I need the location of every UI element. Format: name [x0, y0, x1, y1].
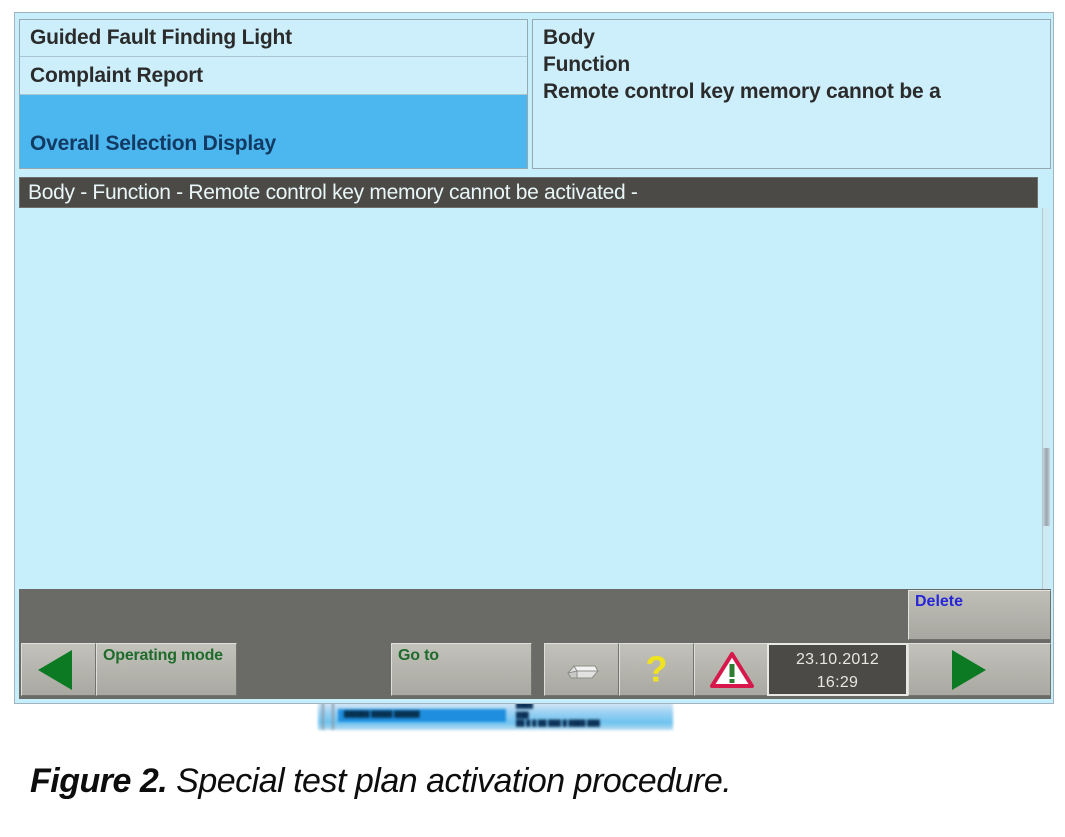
delete-button[interactable]: Delete	[908, 590, 1051, 640]
info-line-fault: Remote control key memory cannot be a	[543, 78, 1050, 105]
triangle-right-icon	[952, 650, 986, 690]
date-text: 23.10.2012	[769, 648, 906, 671]
triangle-left-icon	[38, 650, 72, 690]
menu-item-overall-selection-display[interactable]: Overall Selection Display	[20, 95, 527, 168]
info-line-function: Function	[543, 51, 1050, 78]
warning-triangle-icon	[710, 651, 754, 689]
scrollbar-thumb[interactable]	[1043, 448, 1050, 526]
header-row: Guided Fault Finding Light Complaint Rep…	[15, 13, 1055, 173]
hmi-screenshot: ██████ █████ ██████ ████ ███ ██ █ █ ██ █…	[0, 0, 1065, 730]
hmi-panel: Guided Fault Finding Light Complaint Rep…	[14, 12, 1054, 704]
warning-button[interactable]	[694, 643, 769, 696]
printer-icon	[562, 659, 602, 681]
back-button[interactable]	[21, 643, 96, 696]
delete-button-label: Delete	[915, 593, 963, 610]
bottom-toolbar: Operating mode Go to ?	[19, 641, 1051, 699]
time-text: 16:29	[769, 671, 906, 694]
menu-item-guided-fault-finding-light[interactable]: Guided Fault Finding Light	[20, 20, 527, 57]
datetime-display[interactable]: 23.10.2012 16:29	[767, 643, 908, 696]
figure-number: Figure 2.	[30, 762, 167, 800]
question-mark-icon: ?	[646, 651, 668, 687]
bg-window-text-2: ████	[516, 703, 533, 710]
menu-item-label: Guided Fault Finding Light	[30, 26, 292, 50]
info-detail-box: Body Function Remote control key memory …	[532, 19, 1051, 169]
help-button[interactable]: ?	[619, 643, 694, 696]
operating-mode-button[interactable]: Operating mode	[96, 643, 237, 696]
menu-list-box: Guided Fault Finding Light Complaint Rep…	[19, 19, 528, 169]
goto-button[interactable]: Go to	[391, 643, 532, 696]
print-button[interactable]	[544, 643, 619, 696]
goto-label: Go to	[398, 647, 439, 665]
content-scrollbar[interactable]	[1042, 208, 1049, 589]
menu-item-label: Overall Selection Display	[30, 132, 276, 156]
figure-caption-text: Special test plan activation procedure.	[167, 762, 731, 800]
breadcrumb-text: Body - Function - Remote control key mem…	[28, 181, 638, 205]
bg-window-text-4: ██ █ █ ██ ███ █ ████ ███	[516, 721, 600, 728]
content-area	[19, 208, 1051, 589]
bg-window-text-3: ███	[516, 713, 529, 720]
info-line-body: Body	[543, 24, 1050, 51]
bg-window-text: ██████ █████ ██████	[344, 712, 420, 719]
operating-mode-label: Operating mode	[103, 647, 223, 665]
breadcrumb-title-strip: Body - Function - Remote control key mem…	[19, 177, 1038, 208]
figure-caption: Figure 2. Special test plan activation p…	[30, 762, 1030, 801]
menu-item-label: Complaint Report	[30, 64, 203, 88]
action-band: Delete	[19, 589, 1051, 641]
menu-item-complaint-report[interactable]: Complaint Report	[20, 57, 527, 95]
forward-button[interactable]	[908, 643, 1051, 696]
